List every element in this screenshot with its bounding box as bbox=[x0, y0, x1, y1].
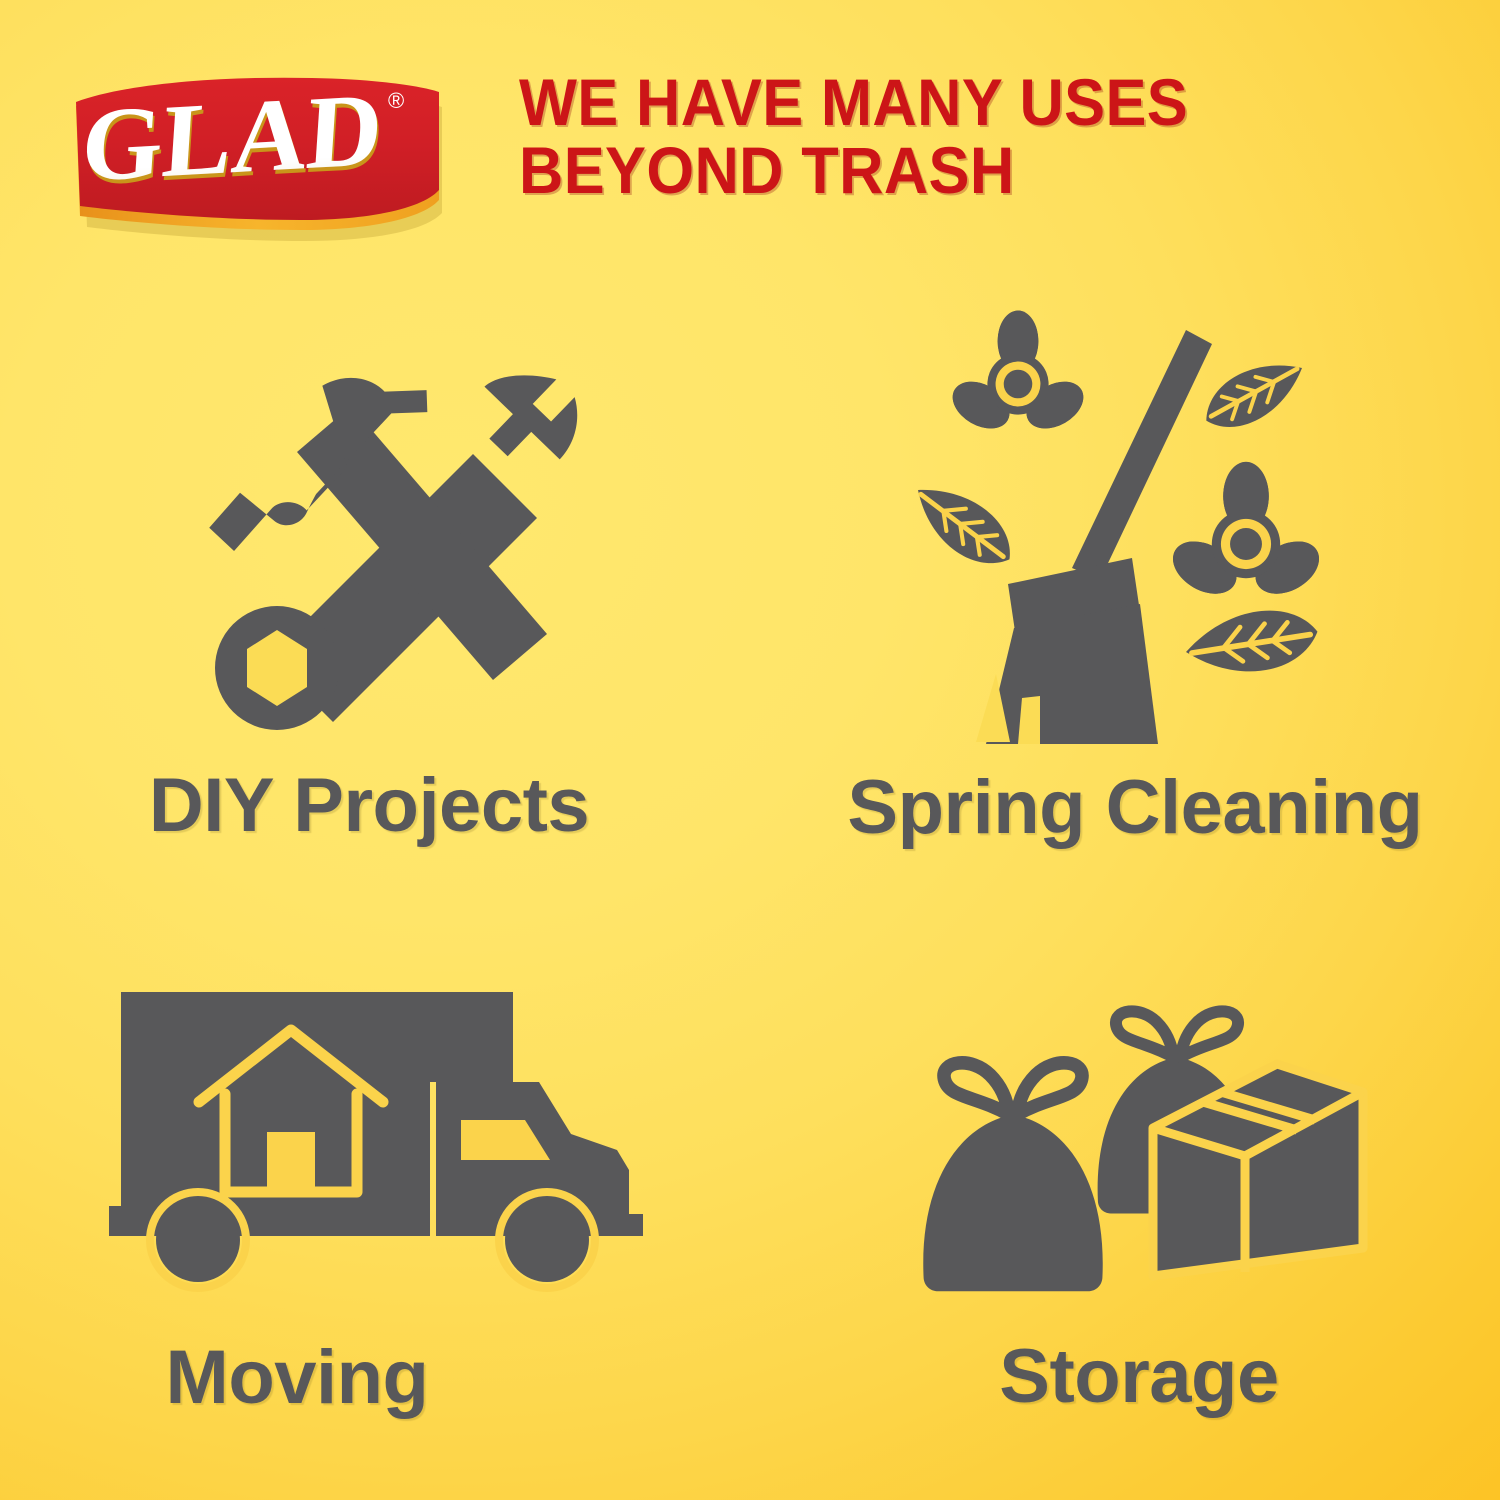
logo-wordmark-text: GLAD bbox=[78, 71, 386, 204]
trash-bags-box-icon bbox=[885, 942, 1365, 1287]
logo-wordmark: GLAD GLAD bbox=[78, 71, 387, 208]
headline-line-1: WE HAVE MANY USES bbox=[519, 69, 1356, 137]
flower-mid-right bbox=[1164, 462, 1329, 604]
trash-bag-front bbox=[923, 1063, 1102, 1291]
hammer-wrench-icon bbox=[165, 362, 585, 742]
wrench-ring bbox=[215, 606, 339, 730]
moving-truck-house-icon bbox=[95, 974, 655, 1284]
registered-trademark-icon: ® bbox=[388, 88, 404, 113]
use-label-storage: Storage bbox=[999, 1339, 1278, 1415]
use-label-diy-projects: DIY Projects bbox=[149, 768, 589, 844]
glad-uses-poster: GLAD GLAD ® WE HAVE MANY USES BEYOND TRA… bbox=[0, 0, 1500, 1500]
broom-flowers-leaves-icon bbox=[890, 322, 1360, 752]
house-door bbox=[267, 1132, 315, 1194]
leaf-bottom-right bbox=[1182, 604, 1322, 681]
use-label-spring-cleaning: Spring Cleaning bbox=[847, 770, 1422, 846]
headline-line-2: BEYOND TRASH bbox=[519, 137, 1356, 205]
use-label-moving: Moving bbox=[166, 1340, 429, 1416]
leaf-top-right bbox=[1194, 347, 1313, 441]
use-item-storage: Storage bbox=[750, 890, 1500, 1480]
poster-header: GLAD GLAD ® WE HAVE MANY USES BEYOND TRA… bbox=[0, 0, 1500, 280]
truck-icon bbox=[109, 992, 643, 1288]
truck-wheel-front bbox=[499, 1192, 595, 1288]
use-item-moving: Moving bbox=[0, 890, 750, 1480]
glad-logo: GLAD GLAD ® bbox=[68, 72, 443, 247]
uses-grid: DIY Projects bbox=[0, 300, 1500, 1480]
page-title: WE HAVE MANY USES BEYOND TRASH bbox=[519, 69, 1356, 205]
use-item-diy-projects: DIY Projects bbox=[0, 300, 750, 890]
flower-top-left bbox=[944, 311, 1091, 438]
truck-wheel-rear bbox=[150, 1192, 246, 1288]
leaf-left bbox=[903, 469, 1025, 580]
use-item-spring-cleaning: Spring Cleaning bbox=[750, 300, 1500, 890]
